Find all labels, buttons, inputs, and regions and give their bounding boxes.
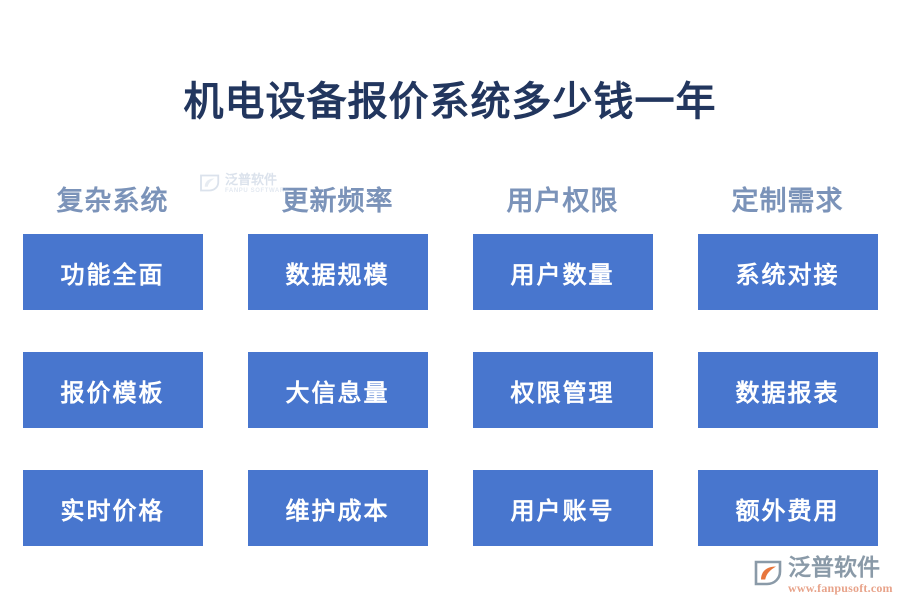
grid-cell: 实时价格	[0, 470, 225, 546]
feature-box[interactable]: 额外费用	[698, 470, 878, 546]
fanpu-logo-icon	[752, 557, 784, 589]
brand-logo[interactable]: 泛普软件 www.fanpusoft.com	[752, 556, 892, 596]
grid-row: 功能全面 数据规模 用户数量 系统对接	[0, 234, 900, 310]
feature-box[interactable]: 系统对接	[698, 234, 878, 310]
column-header-4: 定制需求	[675, 176, 900, 220]
feature-box[interactable]: 功能全面	[23, 234, 203, 310]
column-header-2: 更新频率	[225, 176, 450, 220]
feature-box[interactable]: 权限管理	[473, 352, 653, 428]
feature-box[interactable]: 用户账号	[473, 470, 653, 546]
grid-cell: 功能全面	[0, 234, 225, 310]
grid-cell: 系统对接	[675, 234, 900, 310]
grid-cell: 报价模板	[0, 352, 225, 428]
column-headers: 复杂系统 更新频率 用户权限 定制需求	[0, 176, 900, 220]
column-header-3: 用户权限	[450, 176, 675, 220]
feature-grid: 功能全面 数据规模 用户数量 系统对接 报价模板 大信息量 权限管理 数据报表 …	[0, 234, 900, 546]
brand-url: www.fanpusoft.com	[788, 582, 893, 594]
feature-box[interactable]: 用户数量	[473, 234, 653, 310]
grid-row: 报价模板 大信息量 权限管理 数据报表	[0, 352, 900, 428]
grid-cell: 大信息量	[225, 352, 450, 428]
grid-cell: 用户数量	[450, 234, 675, 310]
feature-box[interactable]: 数据报表	[698, 352, 878, 428]
column-header-1: 复杂系统	[0, 176, 225, 220]
feature-box[interactable]: 维护成本	[248, 470, 428, 546]
feature-box[interactable]: 大信息量	[248, 352, 428, 428]
grid-cell: 用户账号	[450, 470, 675, 546]
grid-cell: 额外费用	[675, 470, 900, 546]
page-title: 机电设备报价系统多少钱一年	[0, 78, 900, 126]
feature-box[interactable]: 数据规模	[248, 234, 428, 310]
grid-row: 实时价格 维护成本 用户账号 额外费用	[0, 470, 900, 546]
grid-cell: 数据规模	[225, 234, 450, 310]
grid-cell: 数据报表	[675, 352, 900, 428]
brand-name: 泛普软件	[788, 556, 893, 579]
feature-box[interactable]: 报价模板	[23, 352, 203, 428]
grid-cell: 权限管理	[450, 352, 675, 428]
grid-cell: 维护成本	[225, 470, 450, 546]
brand-logo-text: 泛普软件 www.fanpusoft.com	[788, 556, 893, 594]
feature-box[interactable]: 实时价格	[23, 470, 203, 546]
